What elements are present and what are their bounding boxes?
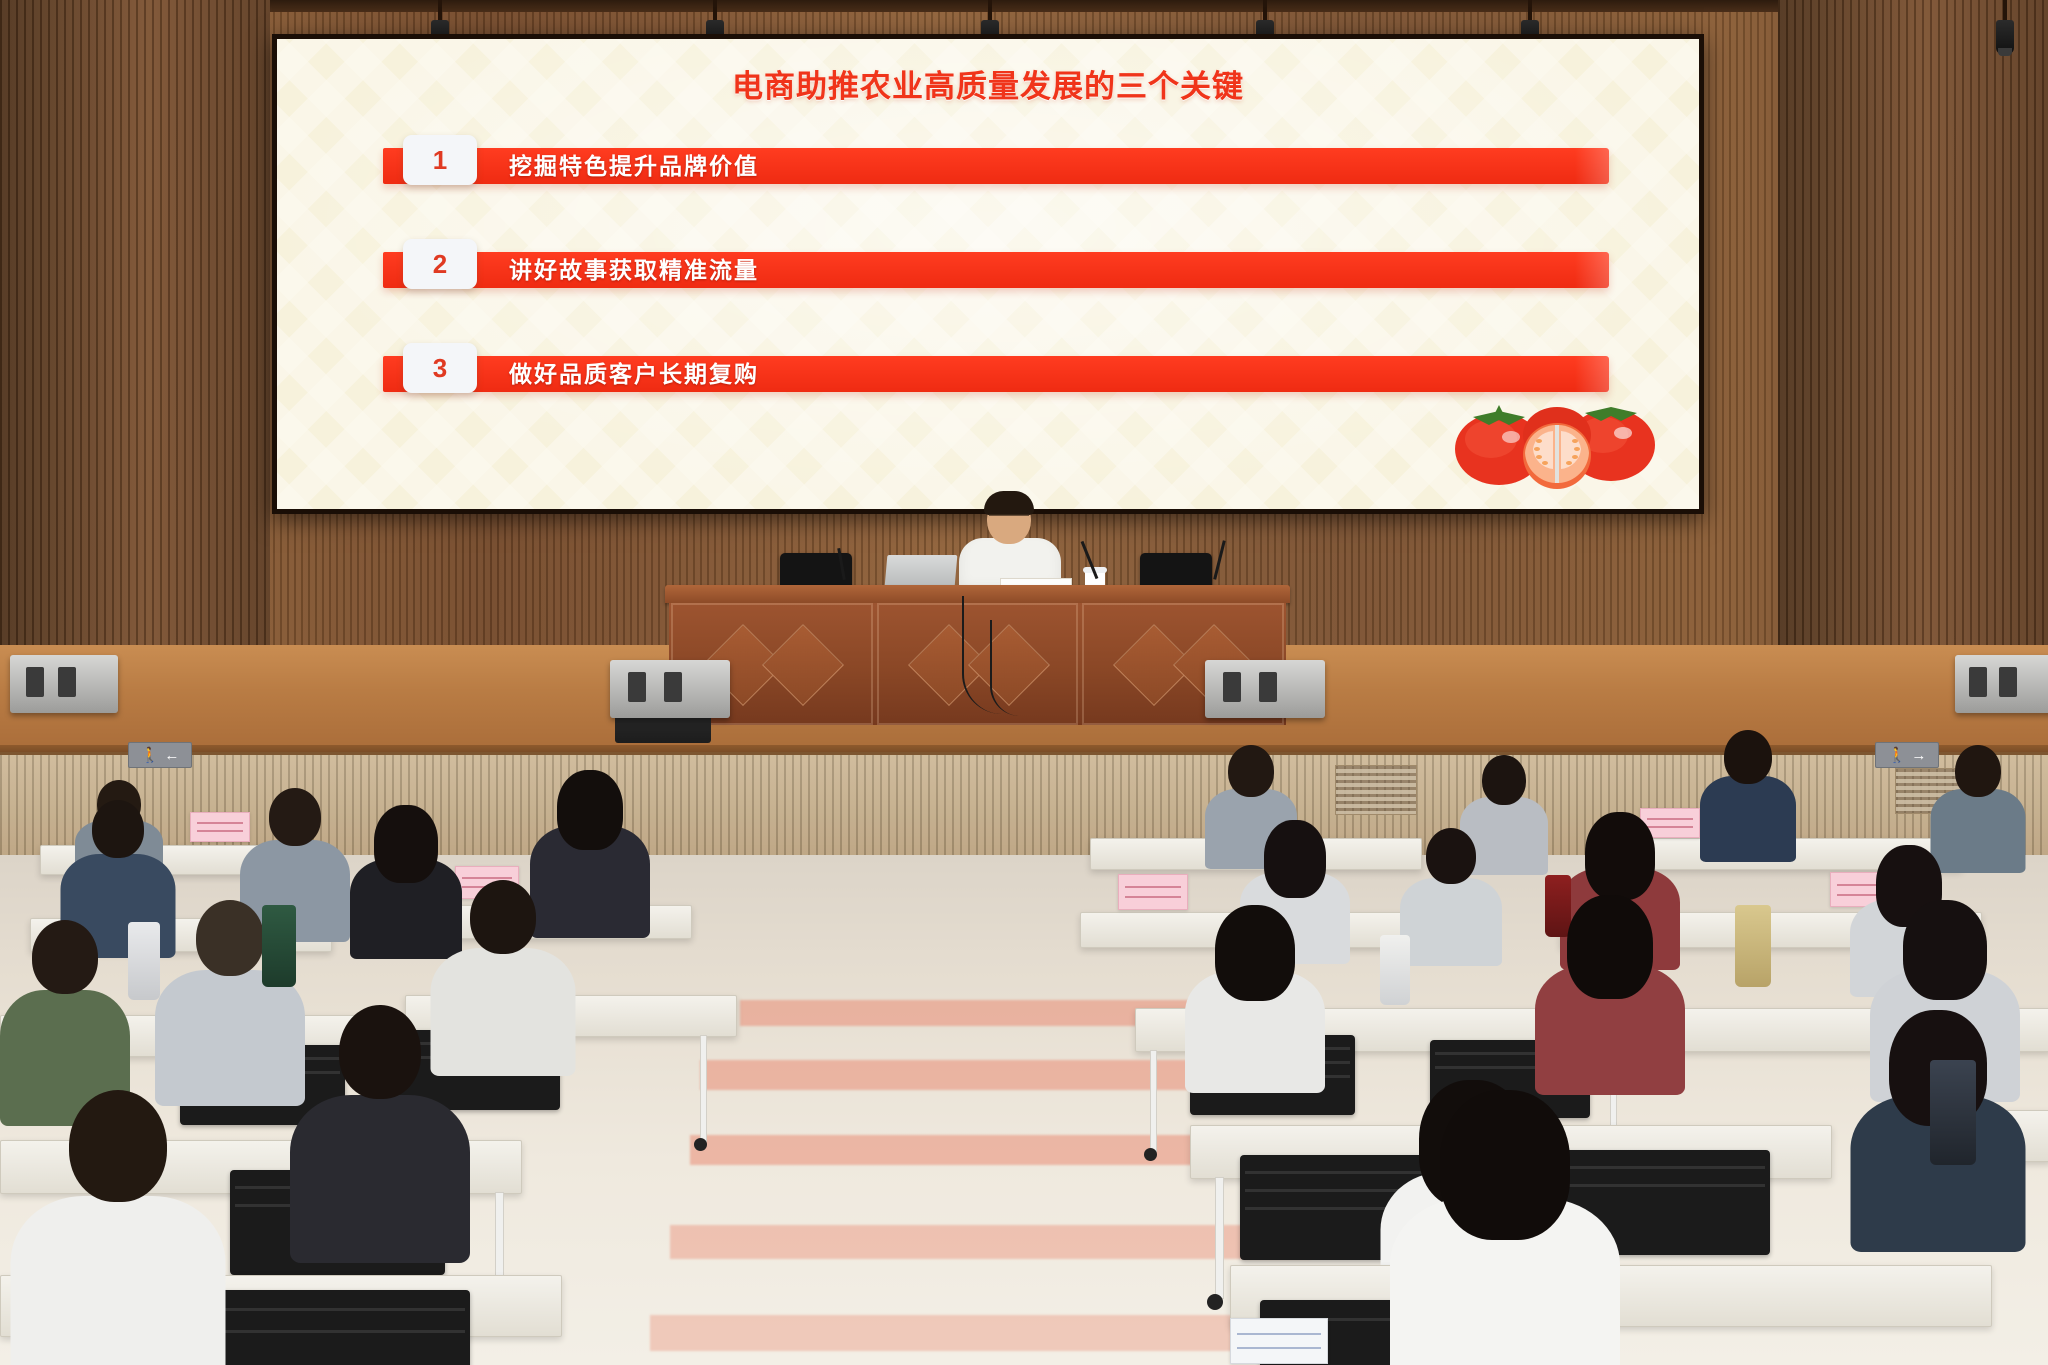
floor-reflection-band	[670, 1225, 1310, 1259]
slide-key-point-row: 2 讲好故事获取精准流量	[373, 239, 1609, 289]
table-leg	[1215, 1177, 1224, 1299]
arrow-left-icon: ←	[164, 748, 179, 763]
floor-reflection-band	[700, 1060, 1260, 1090]
speaker-glasses	[989, 514, 1029, 525]
attendee	[1535, 895, 1685, 1085]
attendee	[1400, 828, 1502, 958]
attendee	[290, 1005, 470, 1255]
ceiling-strip	[0, 0, 2048, 12]
table-caster	[1144, 1148, 1157, 1161]
attendee	[1700, 730, 1796, 860]
tomato-illustration	[1451, 387, 1661, 491]
key-point-number: 2	[403, 239, 477, 289]
key-point-text: 做好品质客户长期复购	[509, 357, 759, 391]
speaker-hair	[984, 491, 1034, 515]
side-pa-speaker	[10, 655, 118, 713]
presentation-slide: 电商助推农业高质量发展的三个关键 1 挖掘特色提升品牌价值 2 讲好故事获取精准…	[277, 39, 1699, 509]
attendee	[10, 1090, 225, 1365]
thermos-bottle	[1380, 935, 1410, 1005]
table-caster	[1207, 1294, 1223, 1310]
thermos-bottle	[128, 922, 160, 1000]
key-point-number: 1	[403, 135, 477, 185]
slide-key-point-row: 3 做好品质客户长期复购	[373, 343, 1609, 393]
wall-panel-right	[1778, 0, 2048, 645]
wall-panel-left	[0, 0, 270, 645]
running-person-icon: 🚶	[141, 748, 160, 763]
projection-screen: 电商助推农业高质量发展的三个关键 1 挖掘特色提升品牌价值 2 讲好故事获取精准…	[277, 39, 1699, 509]
table-card	[1118, 874, 1188, 910]
table-leg	[1150, 1050, 1157, 1152]
key-point-number: 3	[403, 343, 477, 393]
slide-title: 电商助推农业高质量发展的三个关键	[277, 61, 1699, 106]
backpack	[1930, 1060, 1976, 1165]
table-caster	[694, 1138, 707, 1151]
key-point-text: 讲好故事获取精准流量	[509, 253, 759, 287]
audience-chair	[210, 1290, 470, 1365]
table-card	[1230, 1318, 1328, 1364]
air-vent	[1335, 765, 1417, 815]
table-leg	[700, 1035, 707, 1142]
slide-key-point-row: 1 挖掘特色提升品牌价值	[373, 135, 1609, 185]
stage-monitor-speaker	[1205, 660, 1325, 718]
attendee	[1185, 905, 1325, 1085]
thermos-bottle	[1735, 905, 1771, 987]
stage-monitor-speaker	[610, 660, 730, 718]
lecture-hall-photo: 电商助推农业高质量发展的三个关键 1 挖掘特色提升品牌价值 2 讲好故事获取精准…	[0, 0, 2048, 1365]
cable	[990, 620, 1020, 716]
key-point-text: 挖掘特色提升品牌价值	[509, 149, 759, 183]
exit-sign-left: 🚶 ←	[128, 742, 192, 768]
attendee	[1390, 1090, 1620, 1365]
ceiling-spotlight	[1995, 0, 2015, 56]
arrow-right-icon: →	[1911, 748, 1926, 763]
side-pa-speaker	[1955, 655, 2048, 713]
running-person-icon: 🚶	[1888, 748, 1907, 763]
projection-screen-frame: 电商助推农业高质量发展的三个关键 1 挖掘特色提升品牌价值 2 讲好故事获取精准…	[272, 34, 1704, 514]
slide-key-points-list: 1 挖掘特色提升品牌价值 2 讲好故事获取精准流量 3 做好品质客户长期复购	[373, 135, 1609, 447]
thermos-bottle	[262, 905, 296, 987]
